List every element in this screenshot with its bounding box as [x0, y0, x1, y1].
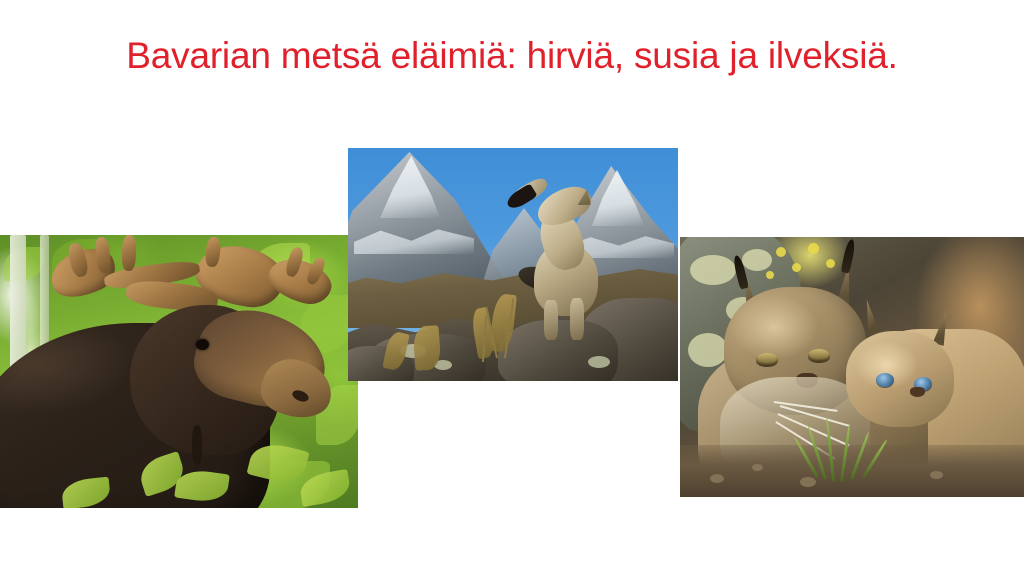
antler-tine	[121, 235, 136, 271]
yellow-flower	[808, 243, 819, 254]
yellow-flower	[826, 259, 835, 268]
pebble	[800, 477, 816, 487]
wolf-photo[interactable]	[348, 148, 678, 381]
pebble	[710, 474, 724, 483]
wolf-leg	[544, 300, 558, 340]
lynx-photo[interactable]	[680, 237, 1024, 497]
lynx-eye-right	[808, 349, 830, 362]
slide-canvas: Bavarian metsä eläimiä: hirviä, susia ja…	[0, 0, 1024, 574]
moose-dewlap	[192, 425, 202, 465]
lynx-kitten-head	[846, 331, 954, 427]
moose-photo[interactable]	[0, 235, 358, 508]
yellow-flower	[776, 247, 786, 257]
slide-title: Bavarian metsä eläimiä: hirviä, susia ja…	[62, 34, 962, 78]
yellow-flower	[792, 263, 801, 272]
lichen-patch	[690, 255, 736, 285]
moose-eye	[196, 339, 209, 350]
boulder-center	[498, 320, 618, 381]
lichen-patch	[688, 333, 728, 367]
pebble	[752, 464, 763, 471]
birch-trunk	[40, 235, 49, 355]
lynx-eye-left	[756, 353, 778, 366]
pebble	[930, 471, 943, 479]
lichen-patch	[742, 249, 772, 271]
yellow-flower	[766, 271, 774, 279]
lichen-spot	[588, 356, 610, 368]
kitten-eye-left	[876, 373, 894, 387]
wolf-leg	[570, 298, 584, 340]
kitten-nose	[910, 387, 925, 397]
